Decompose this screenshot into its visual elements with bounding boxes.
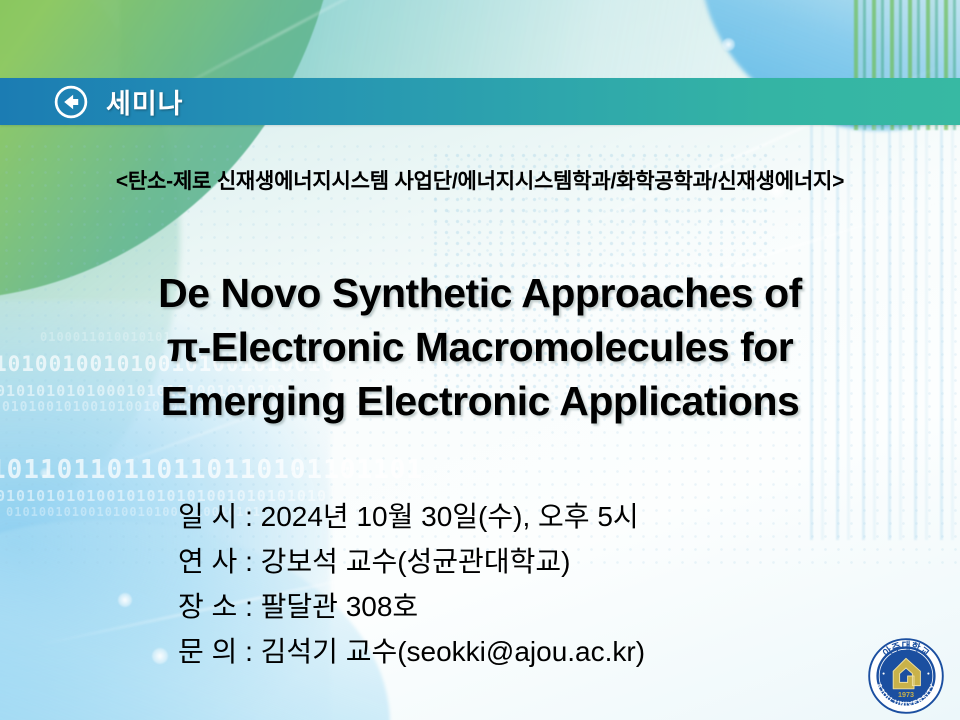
svg-text:1973: 1973 xyxy=(898,690,914,699)
binary-texture-row: 10110110110110110101101101 xyxy=(0,455,423,485)
detail-datetime: 일 시 : 2024년 10월 30일(수), 오후 5시 xyxy=(178,494,878,539)
details-block: 일 시 : 2024년 10월 30일(수), 오후 5시 연 사 : 강보석 … xyxy=(178,494,878,674)
detail-location: 장 소 : 팔달관 308호 xyxy=(178,584,878,629)
title-line-3: Emerging Electronic Applications xyxy=(0,374,960,428)
bokeh-dot xyxy=(722,38,735,51)
header-title: 세미나 xyxy=(106,82,184,121)
detail-contact: 문 의 : 김석기 교수(seokki@ajou.ac.kr) xyxy=(178,629,878,674)
title-block: De Novo Synthetic Approaches of π-Electr… xyxy=(0,266,960,428)
background-green-leaf xyxy=(0,0,340,300)
title-line-2: π-Electronic Macromolecules for xyxy=(0,320,960,374)
back-arrow-circle-icon[interactable] xyxy=(54,85,88,119)
seminar-poster: 1010010010100101001010010 10101010101000… xyxy=(0,0,960,720)
bokeh-dot xyxy=(152,648,168,664)
bokeh-dot xyxy=(40,468,50,478)
bokeh-dot xyxy=(118,593,132,607)
ajou-university-seal-logo: 아주대학교 AJOU UNIVERSITY 1973 xyxy=(866,636,946,716)
title-line-1: De Novo Synthetic Approaches of xyxy=(0,266,960,320)
detail-speaker: 연 사 : 강보석 교수(성균관대학교) xyxy=(178,539,878,584)
organization-line: <탄소-제로 신재생에너지시스템 사업단/에너지시스템학과/화학공학과/신재생에… xyxy=(0,165,960,195)
header-bar: 세미나 xyxy=(0,78,960,125)
